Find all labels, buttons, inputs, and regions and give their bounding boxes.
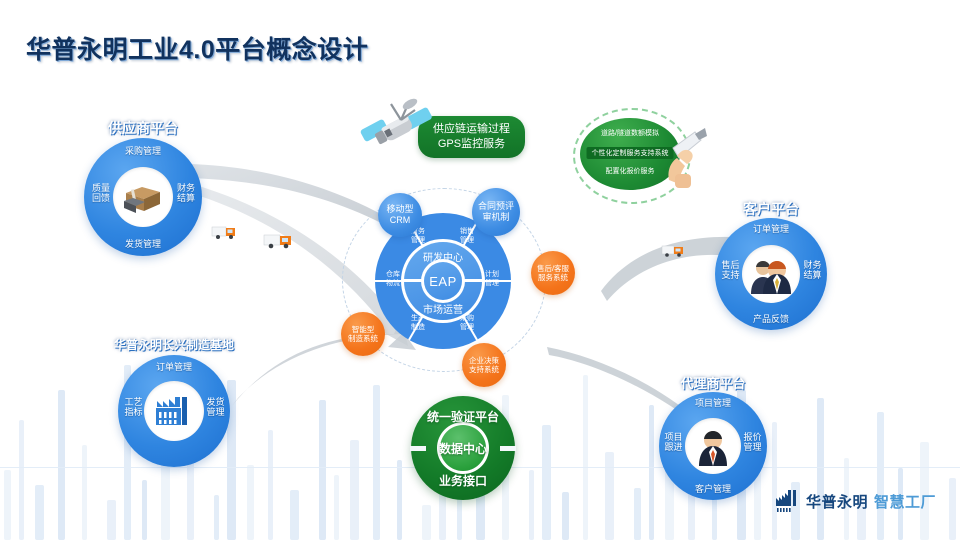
skyline-bar bbox=[649, 405, 654, 540]
customers-icon bbox=[742, 245, 800, 303]
hub-bubble-decision-support[interactable]: 企业决策 支持系统 bbox=[462, 343, 506, 387]
skyline-bar bbox=[187, 455, 194, 540]
customer-platform-circle[interactable]: 客户平台 订单管理 售后 支持 财务 结算 产品反馈 bbox=[715, 218, 827, 330]
customer-label-right[interactable]: 财务 结算 bbox=[800, 260, 825, 281]
brand-logo: 华普永明 智慧工厂 bbox=[774, 488, 936, 514]
data-center-gap bbox=[410, 446, 426, 451]
skyline-bar bbox=[949, 478, 956, 540]
customer-label-bottom[interactable]: 产品反馈 bbox=[753, 314, 789, 324]
skyline-bar bbox=[214, 495, 219, 540]
hub-bubble-contract-review[interactable]: 合同预评 审机制 bbox=[472, 188, 520, 236]
hub-bubble-crm[interactable]: 移动型 CRM bbox=[378, 193, 422, 237]
skyline-bar bbox=[583, 375, 588, 540]
skyline-bar bbox=[422, 505, 431, 540]
manufacturing-label-right[interactable]: 发货 管理 bbox=[203, 397, 228, 418]
logo-brand-text: 华普永明 bbox=[806, 491, 868, 512]
supplier-platform-circle[interactable]: 供应商平台 采购管理 质量 回馈 财务 结算 发货管理 bbox=[84, 138, 202, 256]
manufacturing-label-top[interactable]: 订单管理 bbox=[156, 362, 192, 372]
hub-core[interactable]: EAP bbox=[424, 262, 462, 300]
skyline-bar bbox=[817, 398, 824, 540]
skyline-bar bbox=[877, 412, 884, 540]
skyline-bar bbox=[542, 425, 551, 540]
customer-platform-title: 客户平台 bbox=[743, 199, 799, 219]
supplier-icon-hole bbox=[113, 167, 173, 227]
hub-inner-bottom-label[interactable]: 市场运营 bbox=[423, 301, 463, 316]
agent-platform-title: 代理商平台 bbox=[680, 373, 745, 392]
truck-icon bbox=[262, 230, 296, 252]
skyline-bar bbox=[35, 485, 44, 540]
customer-label-top[interactable]: 订单管理 bbox=[753, 224, 789, 234]
skyline-bar bbox=[562, 492, 569, 540]
agent-label-bottom[interactable]: 客户管理 bbox=[695, 484, 731, 494]
custom-service-line-0[interactable]: 道路/隧道数额模拟 bbox=[601, 128, 659, 138]
manufacturing-icon-hole bbox=[144, 381, 204, 441]
data-center-bottom-label[interactable]: 业务接口 bbox=[439, 472, 487, 489]
supplier-label-right[interactable]: 财务 结算 bbox=[173, 183, 199, 204]
manufacturing-base-circle[interactable]: 华普永明长兴制造基地 订单管理 工艺 指标 发货 管理 bbox=[118, 355, 230, 467]
skyline-bar bbox=[605, 452, 614, 540]
supplier-label-bottom[interactable]: 发货管理 bbox=[125, 239, 161, 249]
skyline-bar bbox=[397, 460, 402, 540]
hub-bubble-smart-manufacturing[interactable]: 智能型 制造系统 bbox=[341, 312, 385, 356]
hpym-logo-icon bbox=[774, 488, 800, 514]
skyline-bar bbox=[772, 422, 777, 540]
supplier-label-left[interactable]: 质量 回馈 bbox=[88, 183, 114, 204]
skyline-bar bbox=[290, 490, 299, 540]
manufacturing-base-title: 华普永明长兴制造基地 bbox=[114, 336, 234, 353]
data-center-gap bbox=[500, 446, 516, 451]
skyline-bar bbox=[373, 385, 380, 540]
skyline-bar bbox=[19, 420, 24, 540]
slide-canvas: 华普永明工业4.0平台概念设计 bbox=[0, 0, 960, 540]
skyline-bar bbox=[754, 472, 761, 540]
custom-service-circle[interactable]: 道路/隧道数额模拟 个性化定制服务支持系统 配置化报价服务 bbox=[573, 108, 687, 200]
data-center-top-label[interactable]: 统一验证平台 bbox=[427, 408, 499, 425]
agent-label-top[interactable]: 项目管理 bbox=[695, 398, 731, 408]
factory-icon bbox=[144, 381, 204, 441]
agent-platform-circle[interactable]: 代理商平台 项目管理 项目 跟进 报价 管理 客户管理 bbox=[659, 392, 767, 500]
customer-label-left[interactable]: 售后 支持 bbox=[718, 260, 743, 281]
customer-icon-hole bbox=[742, 245, 800, 303]
data-center-circle[interactable]: 统一验证平台 数据中心 业务接口 bbox=[411, 396, 515, 500]
skyline-bar bbox=[334, 475, 339, 540]
custom-service-line-2[interactable]: 配置化报价服务 bbox=[606, 166, 655, 176]
custom-service-line-1[interactable]: 个性化定制服务支持系统 bbox=[587, 147, 674, 159]
businessman-icon bbox=[685, 418, 741, 474]
supplier-label-top[interactable]: 采购管理 bbox=[125, 146, 161, 156]
manufacturing-label-left[interactable]: 工艺 指标 bbox=[121, 397, 146, 418]
skyline-bar bbox=[268, 430, 273, 540]
skyline-bar bbox=[634, 488, 641, 540]
logo-suffix-text: 智慧工厂 bbox=[874, 491, 936, 512]
skyline-bar bbox=[350, 440, 359, 540]
package-box-icon bbox=[113, 167, 173, 227]
skyline-bar bbox=[529, 470, 534, 540]
hub-inner-divider bbox=[464, 279, 482, 282]
hub-inner-divider bbox=[404, 279, 422, 282]
agent-label-right[interactable]: 报价 管理 bbox=[740, 432, 765, 453]
skyline-bar bbox=[107, 500, 116, 540]
page-title: 华普永明工业4.0平台概念设计 bbox=[26, 30, 368, 66]
skyline-bar bbox=[58, 390, 65, 540]
agent-icon-hole bbox=[685, 418, 741, 474]
skyline-bar bbox=[712, 498, 717, 540]
gps-service-box[interactable]: 供应链运输过程 GPS监控服务 bbox=[418, 116, 525, 158]
skyline-bar bbox=[247, 465, 254, 540]
agent-label-left[interactable]: 项目 跟进 bbox=[661, 432, 686, 453]
hub-bubble-aftersales[interactable]: 售后/客服 服务系统 bbox=[531, 251, 575, 295]
skyline-bar bbox=[4, 470, 11, 540]
supplier-platform-title: 供应商平台 bbox=[108, 118, 178, 138]
truck-icon bbox=[660, 242, 688, 260]
truck-icon bbox=[210, 222, 240, 242]
data-center-core-label[interactable]: 数据中心 bbox=[439, 440, 487, 457]
skyline-bar bbox=[142, 480, 147, 540]
skyline-bar bbox=[82, 445, 87, 540]
skyline-bar bbox=[319, 400, 326, 540]
